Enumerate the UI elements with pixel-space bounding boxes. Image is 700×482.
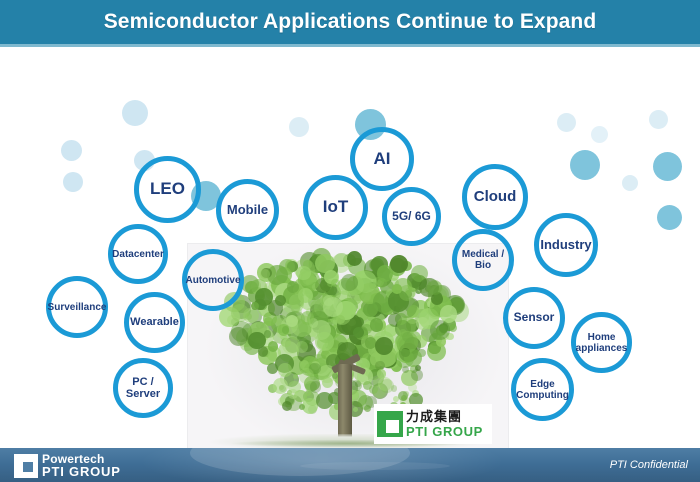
app-bubble-label: Surveillance (46, 302, 109, 313)
app-bubble-label: Medical / Bio (457, 249, 509, 271)
tree-leaf-cluster (398, 391, 408, 401)
powertech-footer-logo: Powertech PTI GROUP (14, 453, 121, 478)
tree-leaf-cluster (408, 383, 417, 392)
tree-leaf-cluster (231, 304, 249, 322)
app-bubble-automotive[interactable]: Automotive (182, 249, 244, 311)
app-bubble-label: Cloud (472, 189, 519, 206)
decor-dot (61, 140, 82, 161)
app-bubble-industry[interactable]: Industry (534, 213, 598, 277)
pti-logo-chinese: 力成集團 (406, 410, 483, 423)
app-bubble-leo[interactable]: LEO (134, 156, 201, 223)
pti-logo-square-icon (377, 411, 403, 437)
tree-leaf-cluster (278, 363, 292, 377)
decor-dot (557, 113, 576, 132)
tree-leaf-cluster (323, 297, 343, 317)
tree-leaf-cluster (375, 337, 393, 355)
app-bubble-label: PC / Server (118, 376, 168, 400)
powertech-logo-line2: PTI GROUP (42, 465, 121, 478)
tree-trunk (338, 364, 352, 442)
app-bubble-iot[interactable]: IoT (303, 175, 368, 240)
pti-group-logo: 力成集團 PTI GROUP (374, 404, 492, 444)
pti-logo-english: PTI GROUP (406, 425, 483, 438)
app-bubble-edge-computing[interactable]: Edge Computing (511, 358, 574, 421)
app-bubble-label: AI (372, 150, 393, 169)
tree-leaf-cluster (315, 332, 333, 350)
tree-leaf-cluster (355, 271, 377, 293)
decor-dot (653, 152, 682, 181)
slide: Semiconductor Applications Continue to E… (0, 0, 700, 482)
tree-leaf-cluster (449, 324, 457, 332)
app-bubble-label: Sensor (512, 311, 557, 324)
app-bubble-mobile[interactable]: Mobile (216, 179, 279, 242)
app-bubble-label: Mobile (225, 203, 270, 217)
tree-leaf-cluster (248, 332, 266, 350)
app-bubble-surveillance[interactable]: Surveillance (46, 276, 108, 338)
tree-leaf-cluster (273, 378, 288, 393)
app-bubble-label: Wearable (128, 316, 181, 328)
tree-leaf-cluster (331, 279, 340, 288)
tree-leaf-cluster (310, 381, 322, 393)
slide-canvas: 力成集團 PTI GROUP AILEOIoTCloudMobile5G/ 6G… (0, 47, 700, 448)
decor-dot (622, 175, 638, 191)
powertech-logo-text: Powertech PTI GROUP (42, 453, 121, 478)
decor-dot (591, 126, 608, 143)
tree-leaf-cluster (299, 368, 314, 383)
app-bubble-5g-6g[interactable]: 5G/ 6G (382, 187, 441, 246)
decor-dot (122, 100, 148, 126)
app-bubble-label: Edge Computing (514, 379, 571, 401)
tree-leaf-cluster (267, 363, 278, 374)
decor-dot (289, 117, 309, 137)
app-bubble-datacenter[interactable]: Datacenter (108, 224, 168, 284)
app-bubble-label: IoT (321, 198, 351, 217)
tree-leaf-cluster (268, 341, 278, 351)
tree-leaf-cluster (390, 255, 408, 273)
tree-leaf-cluster (288, 389, 298, 399)
app-bubble-cloud[interactable]: Cloud (462, 164, 528, 230)
decor-dot (63, 172, 83, 192)
tree-leaf-cluster (370, 318, 383, 331)
tree-leaf-cluster (353, 327, 364, 338)
confidential-note: PTI Confidential (610, 448, 688, 482)
tree-leaf-cluster (341, 274, 358, 291)
app-bubble-label: Automotive (184, 275, 243, 286)
app-bubble-medical-bio[interactable]: Medical / Bio (452, 229, 514, 291)
app-bubble-ai[interactable]: AI (350, 127, 414, 191)
page-title: Semiconductor Applications Continue to E… (0, 0, 700, 44)
footer-highlight (300, 462, 450, 470)
tree-leaf-cluster (229, 327, 248, 346)
app-bubble-wearable[interactable]: Wearable (124, 292, 185, 353)
app-bubble-label: 5G/ 6G (390, 210, 433, 223)
tree-leaf-cluster (301, 311, 315, 325)
decor-dot (649, 110, 668, 129)
powertech-logo-square-icon (14, 454, 38, 478)
decor-dot (657, 205, 682, 230)
tree-leaf-cluster (392, 284, 402, 294)
app-bubble-home-appliances[interactable]: Home appliances (571, 312, 632, 373)
app-bubble-label: Industry (538, 238, 593, 252)
pti-logo-text: 力成集團 PTI GROUP (406, 410, 483, 438)
tree-leaf-cluster (287, 281, 299, 293)
slide-footer-bar: Powertech PTI GROUP PTI Confidential (0, 448, 700, 482)
tree-leaf-cluster (305, 390, 311, 396)
tree-leaf-cluster (380, 379, 394, 393)
app-bubble-label: LEO (148, 180, 187, 199)
app-bubble-label: Home appliances (574, 332, 630, 354)
app-bubble-label: Datacenter (110, 249, 166, 260)
app-bubble-pc-server[interactable]: PC / Server (113, 358, 173, 418)
app-bubble-sensor[interactable]: Sensor (503, 287, 565, 349)
tree-leaf-cluster (282, 326, 290, 334)
tree-leaf-cluster (322, 377, 333, 388)
decor-dot (570, 150, 600, 180)
